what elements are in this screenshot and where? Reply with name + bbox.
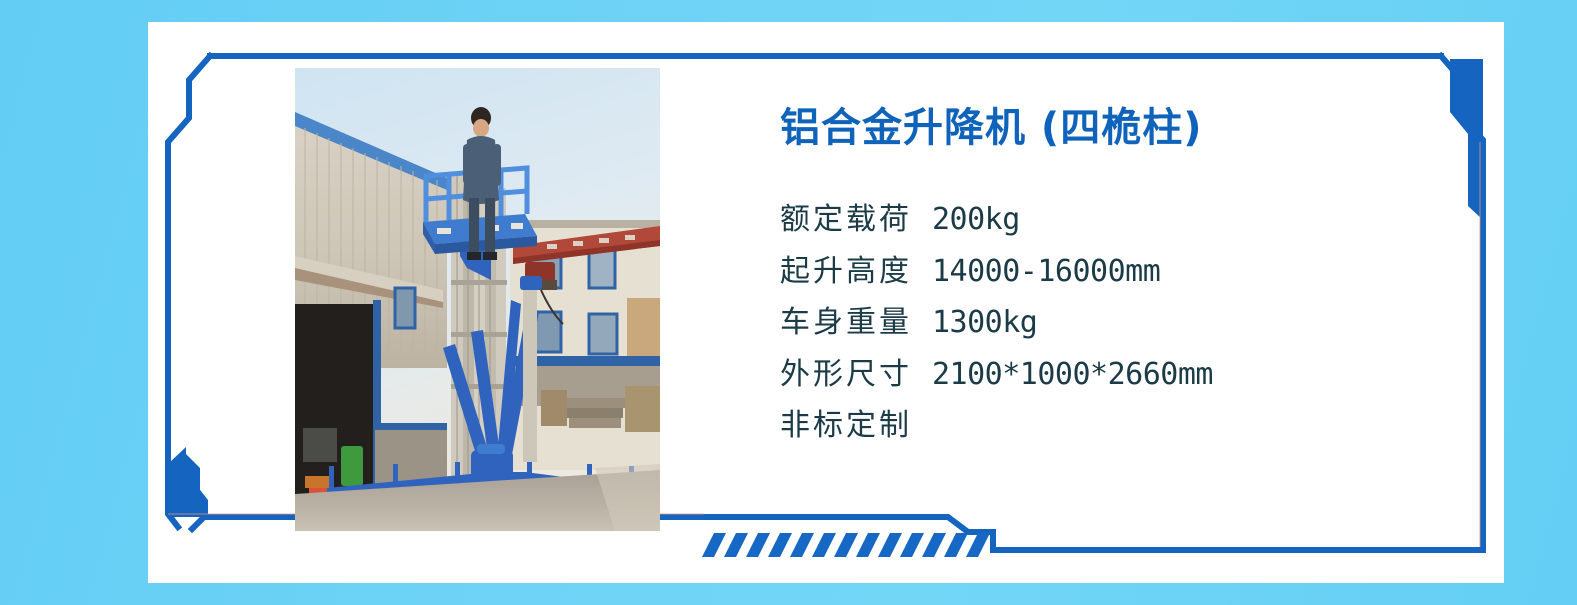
stripe xyxy=(966,533,990,557)
stripe xyxy=(812,533,836,557)
spec-label: 非标定制 xyxy=(780,400,912,452)
spec-value: 200kg xyxy=(932,194,1020,246)
product-photo xyxy=(295,68,660,531)
photo-window xyxy=(589,314,617,354)
stripe xyxy=(702,533,726,557)
spec-row-custom: 非标定制 xyxy=(780,400,1420,452)
spec-label: 额定载荷 xyxy=(780,194,912,246)
poster-canvas: 铝合金升降机 (四桅柱) 额定载荷 200kg 起升高度 14000-16000… xyxy=(0,0,1577,605)
stripe xyxy=(768,533,792,557)
spec-value: 1300kg xyxy=(932,297,1037,349)
stripe xyxy=(944,533,968,557)
stripe xyxy=(856,533,880,557)
spec-label: 车身重量 xyxy=(780,297,912,349)
spec-list: 额定载荷 200kg 起升高度 14000-16000mm 车身重量 1300k… xyxy=(780,194,1420,452)
spec-value: 14000-16000mm xyxy=(932,246,1160,298)
photo-window xyxy=(395,288,415,328)
spec-label: 外形尺寸 xyxy=(780,349,912,401)
stripe xyxy=(834,533,858,557)
spec-row-dimensions: 外形尺寸 2100*1000*2660mm xyxy=(780,349,1420,401)
stripe xyxy=(900,533,924,557)
spec-row-rated-load: 额定载荷 200kg xyxy=(780,194,1420,246)
stripe xyxy=(922,533,946,557)
spec-row-weight: 车身重量 1300kg xyxy=(780,297,1420,349)
photo-bin xyxy=(341,446,363,486)
stripe xyxy=(746,533,770,557)
page-title: 铝合金升降机 (四桅柱) xyxy=(780,104,1420,152)
product-info: 铝合金升降机 (四桅柱) 额定载荷 200kg 起升高度 14000-16000… xyxy=(780,104,1420,452)
spec-label: 起升高度 xyxy=(780,246,912,298)
spec-value: 2100*1000*2660mm xyxy=(932,349,1213,401)
spec-row-lift-height: 起升高度 14000-16000mm xyxy=(780,246,1420,298)
stripe xyxy=(724,533,748,557)
stripe-band xyxy=(700,527,1010,561)
stripe xyxy=(878,533,902,557)
stripe xyxy=(790,533,814,557)
